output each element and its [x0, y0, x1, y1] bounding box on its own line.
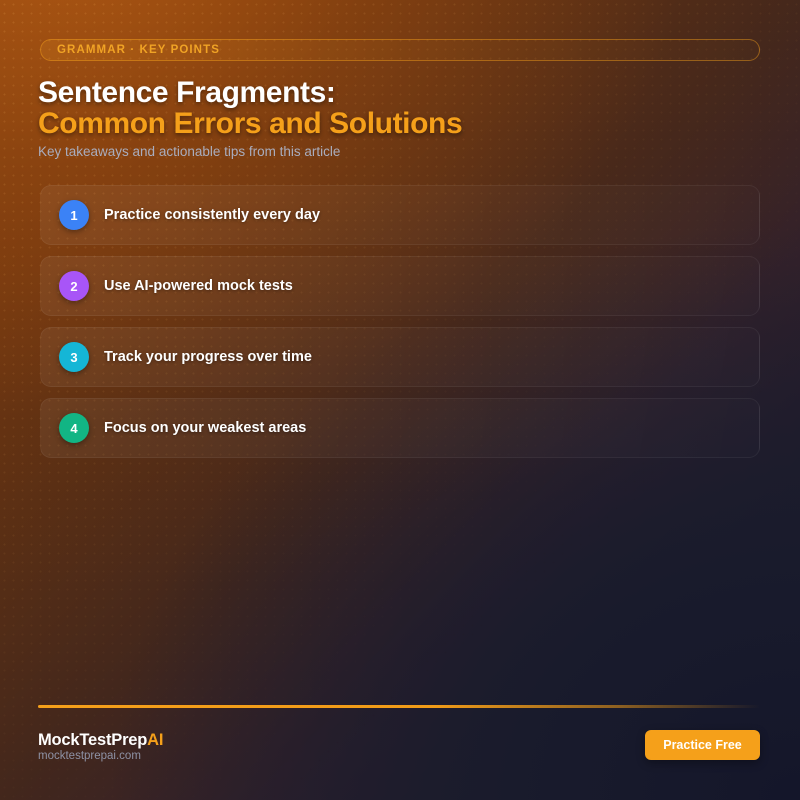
brand-name-accent: AI: [147, 731, 163, 749]
list-item[interactable]: 1 Practice consistently every day: [40, 185, 760, 245]
page-title-line-1: Sentence Fragments:: [38, 76, 335, 110]
point-number-badge: 1: [59, 200, 89, 230]
footer-divider: [38, 705, 760, 708]
point-number-badge: 4: [59, 413, 89, 443]
point-label: Track your progress over time: [104, 349, 312, 365]
social-key-points-card: GRAMMAR · KEY POINTS Sentence Fragments:…: [0, 0, 800, 800]
page-title-line-2: Common Errors and Solutions: [38, 107, 462, 141]
list-item[interactable]: 4 Focus on your weakest areas: [40, 398, 760, 458]
practice-free-button[interactable]: Practice Free: [645, 730, 760, 760]
point-label: Focus on your weakest areas: [104, 420, 306, 436]
eyebrow-badge: GRAMMAR · KEY POINTS: [40, 39, 760, 61]
brand-logo: MockTestPrepAI: [38, 731, 163, 750]
list-item[interactable]: 3 Track your progress over time: [40, 327, 760, 387]
eyebrow-label: GRAMMAR · KEY POINTS: [57, 44, 220, 56]
brand-url: mocktestprepai.com: [38, 750, 141, 762]
brand-name-main: MockTestPrep: [38, 731, 147, 749]
point-label: Practice consistently every day: [104, 207, 320, 223]
list-item[interactable]: 2 Use AI-powered mock tests: [40, 256, 760, 316]
point-label: Use AI-powered mock tests: [104, 278, 293, 294]
key-points-list: 1 Practice consistently every day 2 Use …: [40, 185, 760, 469]
point-number-badge: 3: [59, 342, 89, 372]
page-subtitle: Key takeaways and actionable tips from t…: [38, 144, 340, 159]
point-number-badge: 2: [59, 271, 89, 301]
